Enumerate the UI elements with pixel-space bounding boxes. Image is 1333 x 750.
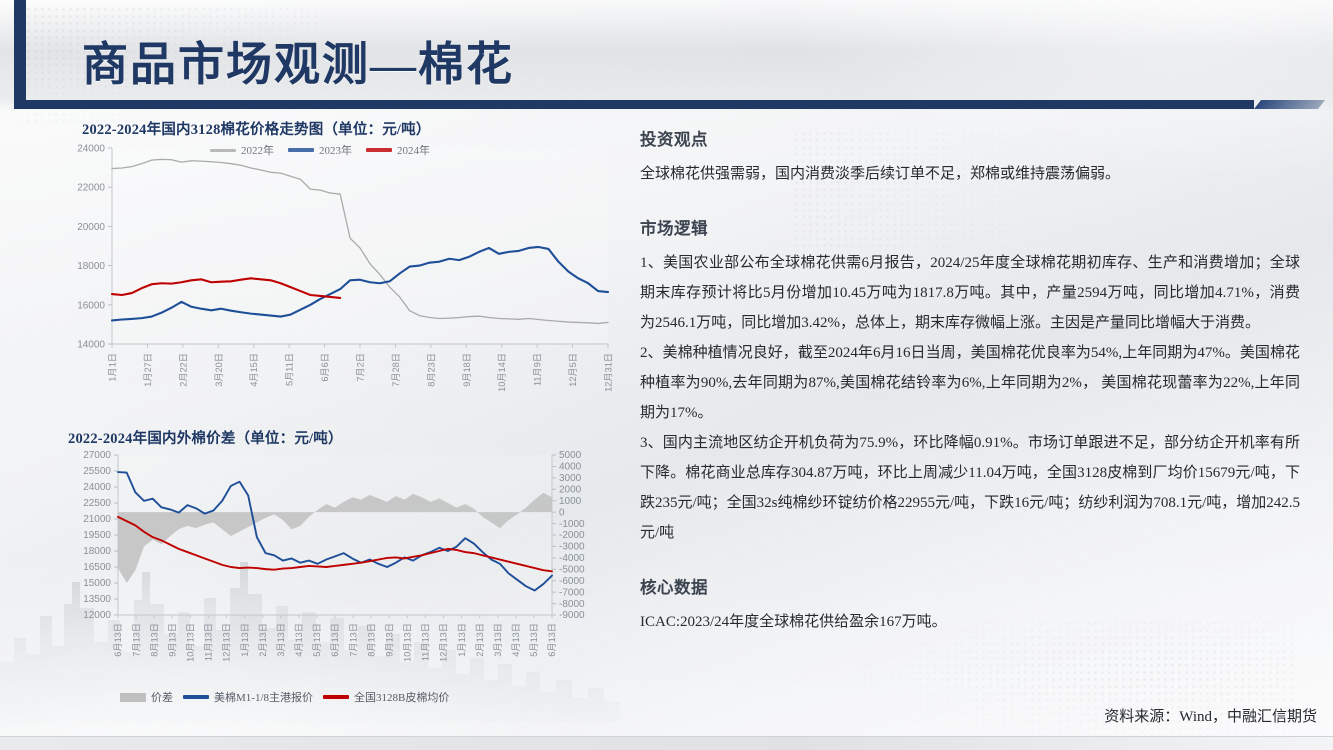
- chart-2-title: 2022-2024年国内外棉价差（单位：元/吨）: [68, 427, 343, 448]
- source-note: 资料来源：Wind，中融汇信期货: [1104, 702, 1317, 732]
- investment-view-text: 全球棉花供强需弱，国内消费淡季后续订单不足，郑棉或维持震荡偏弱。: [640, 159, 1300, 189]
- svg-text:24000: 24000: [77, 144, 105, 155]
- svg-text:-2000: -2000: [559, 530, 585, 541]
- legend-item-cn-cotton: 全国3128B皮棉均价: [323, 689, 449, 705]
- svg-text:1月13日: 1月13日: [457, 623, 467, 657]
- svg-text:4000: 4000: [559, 462, 582, 473]
- svg-text:0: 0: [559, 507, 565, 518]
- svg-text:12月31日: 12月31日: [604, 353, 614, 392]
- svg-text:12000: 12000: [83, 610, 111, 621]
- svg-text:16500: 16500: [83, 562, 111, 573]
- page-header: 商品市场观测—棉花: [0, 0, 1333, 112]
- svg-text:10月13日: 10月13日: [403, 623, 413, 662]
- spacer-1: [640, 189, 1300, 215]
- svg-text:9月13日: 9月13日: [167, 623, 177, 657]
- svg-text:11月13日: 11月13日: [204, 623, 214, 661]
- chart-2-plot: 1200013500150001650018000195002100022500…: [60, 447, 620, 677]
- svg-text:-8000: -8000: [559, 599, 585, 610]
- svg-text:9月13日: 9月13日: [384, 623, 394, 657]
- svg-text:14000: 14000: [77, 340, 105, 351]
- legend-swatch-cn-cotton: [323, 695, 349, 699]
- core-data-heading: 核心数据: [640, 574, 1300, 598]
- market-logic-paragraph-1: 1、美国农业部公布全球棉花供需6月报告，2024/25年度全球棉花期初库存、生产…: [640, 248, 1300, 338]
- investment-view-heading: 投资观点: [640, 126, 1300, 150]
- svg-text:5月11日: 5月11日: [285, 353, 295, 386]
- legend-label-us-cotton: 美棉M1-1/8主港报价: [214, 689, 313, 705]
- svg-text:12月5日: 12月5日: [568, 353, 578, 387]
- chart-2-legend: 价差 美棉M1-1/8主港报价 全国3128B皮棉均价: [120, 689, 449, 705]
- svg-text:1月1日: 1月1日: [108, 353, 118, 382]
- svg-text:11月9日: 11月9日: [533, 353, 543, 386]
- svg-text:20000: 20000: [77, 222, 105, 233]
- svg-text:1月27日: 1月27日: [143, 353, 153, 387]
- title-underline-tail: [1254, 100, 1325, 109]
- svg-text:4月13日: 4月13日: [511, 623, 521, 657]
- analysis-panel: 投资观点 全球棉花供强需弱，国内消费淡季后续订单不足，郑棉或维持震荡偏弱。 市场…: [640, 126, 1300, 637]
- svg-text:2000: 2000: [559, 484, 582, 495]
- title-underline: [14, 100, 1254, 109]
- svg-text:12月13日: 12月13日: [222, 623, 232, 662]
- chart-cotton-price: 2022-2024年国内3128棉花价格走势图（单位：元/吨） 2022年 20…: [60, 118, 620, 413]
- chart-cotton-spread: 2022-2024年国内外棉价差（单位：元/吨） 120001350015000…: [60, 427, 620, 727]
- svg-text:21000: 21000: [83, 514, 111, 525]
- svg-text:8月23日: 8月23日: [426, 353, 436, 387]
- svg-text:22000: 22000: [77, 183, 105, 194]
- svg-text:8月13日: 8月13日: [149, 623, 159, 657]
- svg-text:3月20日: 3月20日: [214, 353, 224, 387]
- svg-text:12月13日: 12月13日: [439, 623, 449, 662]
- svg-text:16000: 16000: [77, 300, 105, 311]
- svg-text:1月13日: 1月13日: [240, 623, 250, 657]
- svg-text:-5000: -5000: [559, 564, 585, 575]
- svg-text:-6000: -6000: [559, 576, 585, 587]
- svg-text:18000: 18000: [77, 261, 105, 272]
- svg-text:-1000: -1000: [559, 519, 585, 530]
- svg-text:2月22日: 2月22日: [178, 353, 188, 387]
- page-title: 商品市场观测—棉花: [82, 28, 514, 94]
- svg-text:7月13日: 7月13日: [131, 623, 141, 657]
- svg-text:-7000: -7000: [559, 587, 585, 598]
- chart-1-plot: 1400016000180002000022000240001月1日1月27日2…: [60, 136, 620, 406]
- legend-label-spread: 价差: [151, 689, 173, 705]
- svg-text:9月18日: 9月18日: [462, 353, 472, 387]
- svg-text:3月13日: 3月13日: [276, 623, 286, 657]
- svg-text:3000: 3000: [559, 473, 582, 484]
- svg-text:18000: 18000: [83, 546, 111, 557]
- svg-text:15000: 15000: [83, 578, 111, 589]
- svg-text:5000: 5000: [559, 450, 582, 461]
- svg-text:10月13日: 10月13日: [186, 623, 196, 662]
- core-data-text: ICAC:2023/24年度全球棉花供给盈余167万吨。: [640, 607, 1300, 637]
- legend-item-us-cotton: 美棉M1-1/8主港报价: [183, 689, 313, 705]
- svg-text:4月13日: 4月13日: [294, 623, 304, 657]
- svg-text:24000: 24000: [83, 482, 111, 493]
- svg-text:4月15日: 4月15日: [249, 353, 259, 387]
- svg-text:7月13日: 7月13日: [348, 623, 358, 657]
- spacer-2: [640, 548, 1300, 574]
- svg-text:6月13日: 6月13日: [113, 623, 123, 657]
- footer-strip: [0, 736, 1333, 750]
- svg-text:10月14日: 10月14日: [497, 353, 507, 392]
- svg-text:13500: 13500: [83, 594, 111, 605]
- svg-text:3月13日: 3月13日: [493, 623, 503, 657]
- svg-text:-9000: -9000: [559, 610, 585, 621]
- svg-text:5月13日: 5月13日: [529, 623, 539, 657]
- legend-swatch-us-cotton: [183, 695, 209, 699]
- svg-text:1000: 1000: [559, 496, 582, 507]
- svg-text:7月28日: 7月28日: [391, 353, 401, 387]
- accent-bar: [14, 0, 26, 105]
- svg-text:-4000: -4000: [559, 553, 585, 564]
- svg-text:19500: 19500: [83, 530, 111, 541]
- legend-item-spread: 价差: [120, 689, 173, 705]
- svg-text:5月13日: 5月13日: [312, 623, 322, 657]
- svg-text:25500: 25500: [83, 466, 111, 477]
- charts-column: 2022-2024年国内3128棉花价格走势图（单位：元/吨） 2022年 20…: [60, 118, 620, 718]
- market-logic-paragraph-3: 3、国内主流地区纺企开机负荷为75.9%，环比降幅0.91%。市场订单跟进不足，…: [640, 428, 1300, 548]
- svg-text:2月13日: 2月13日: [258, 623, 268, 657]
- svg-text:6月13日: 6月13日: [547, 623, 557, 657]
- svg-text:6月6日: 6月6日: [320, 353, 330, 382]
- market-logic-paragraph-2: 2、美棉种植情况良好，截至2024年6月16日当周，美国棉花优良率为54%,上年…: [640, 338, 1300, 428]
- svg-text:7月2日: 7月2日: [356, 353, 366, 382]
- svg-text:6月13日: 6月13日: [330, 623, 340, 657]
- svg-text:2月13日: 2月13日: [475, 623, 485, 657]
- svg-text:-3000: -3000: [559, 542, 585, 553]
- svg-text:27000: 27000: [83, 450, 111, 461]
- svg-text:22500: 22500: [83, 498, 111, 509]
- svg-text:8月13日: 8月13日: [366, 623, 376, 657]
- svg-text:11月13日: 11月13日: [421, 623, 431, 661]
- market-logic-heading: 市场逻辑: [640, 215, 1300, 239]
- legend-label-cn-cotton: 全国3128B皮棉均价: [354, 689, 449, 705]
- legend-swatch-spread: [120, 693, 146, 702]
